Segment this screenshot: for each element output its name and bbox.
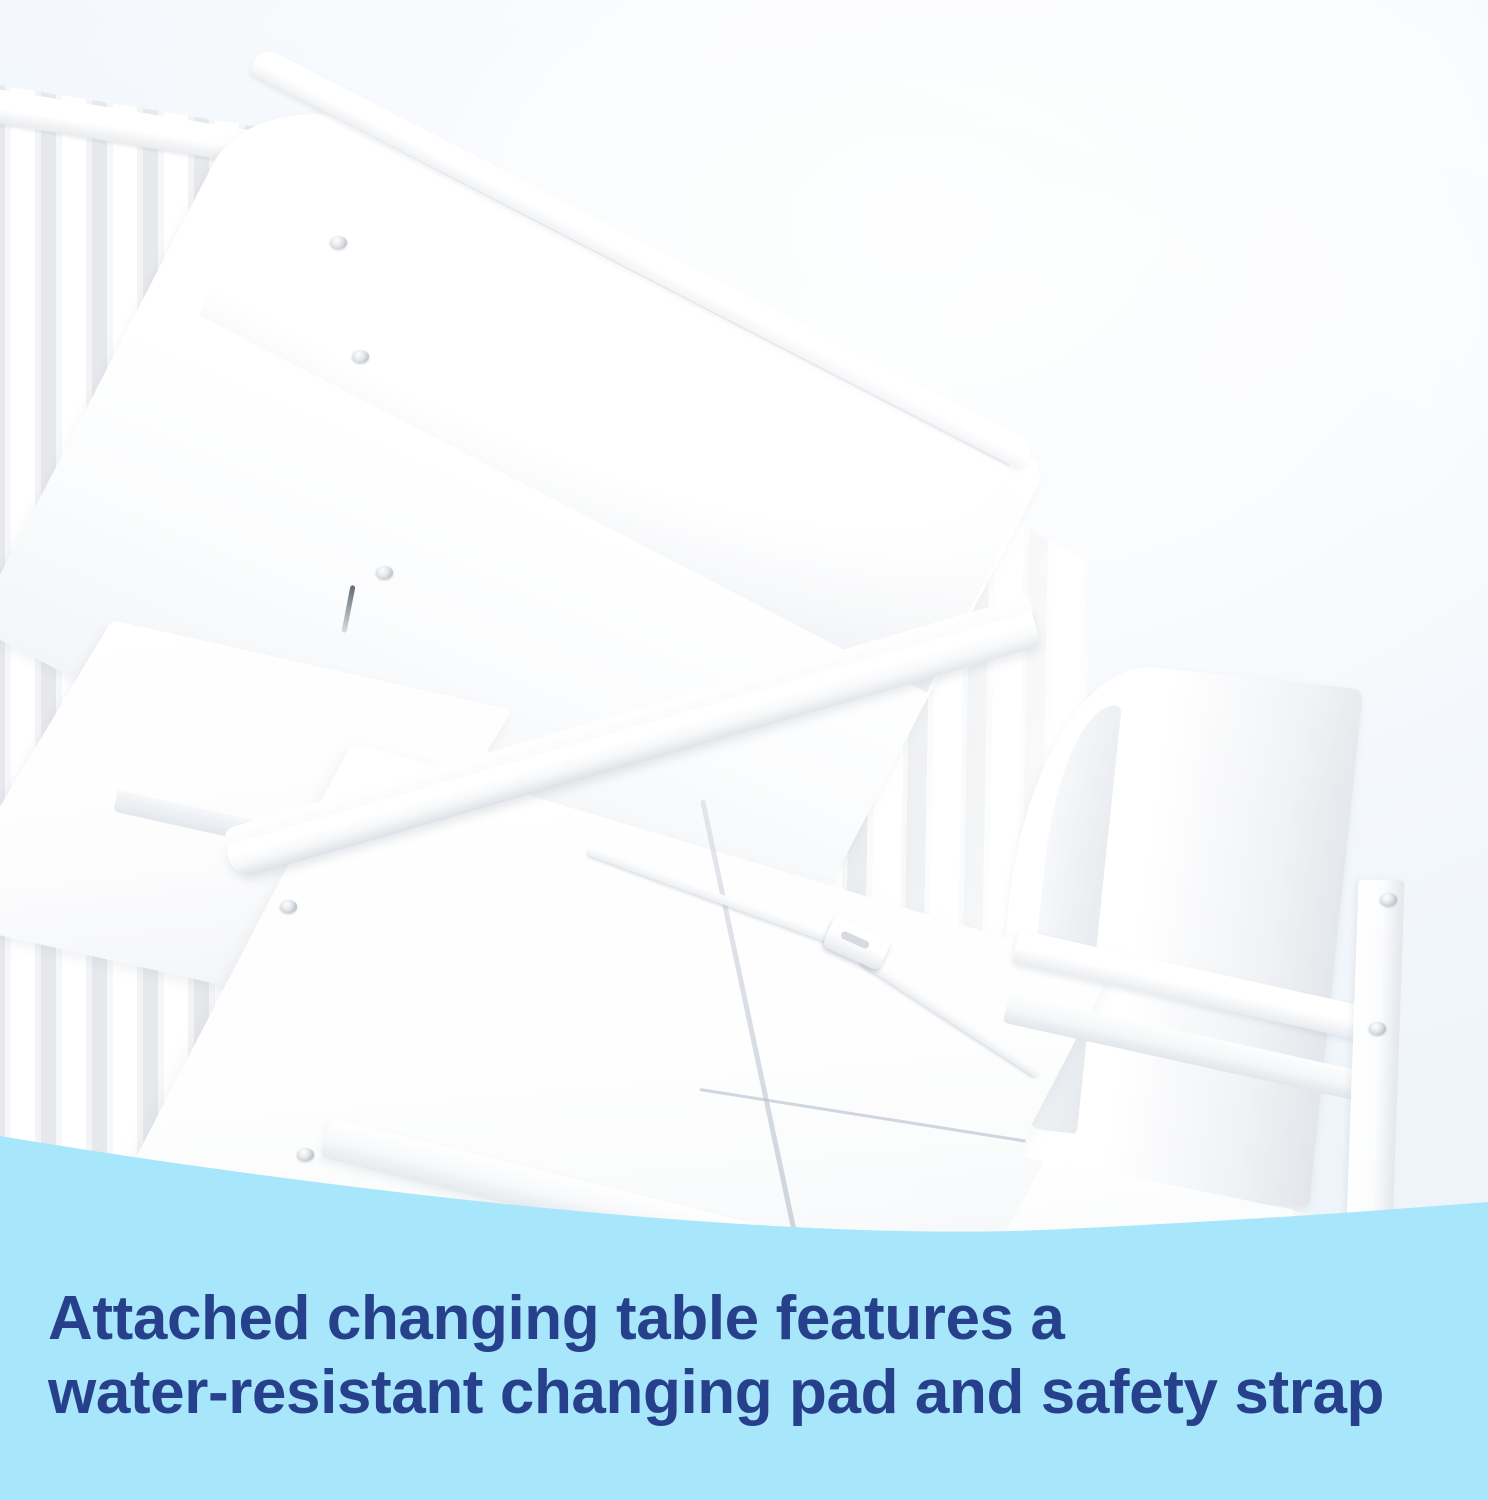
caption-headline: Attached changing table features a water… — [48, 1282, 1448, 1430]
caption-band: Attached changing table features a water… — [0, 1090, 1488, 1500]
screw-cap-icon — [352, 350, 369, 363]
product-feature-image: Attached changing table features a water… — [0, 0, 1488, 1500]
product-photo — [0, 0, 1488, 1260]
screw-cap-icon — [330, 236, 347, 249]
screw-cap-icon — [1380, 893, 1397, 906]
screw-cap-icon — [280, 900, 297, 913]
screw-cap-icon — [376, 566, 393, 579]
screw-cap-icon — [1369, 1022, 1386, 1035]
